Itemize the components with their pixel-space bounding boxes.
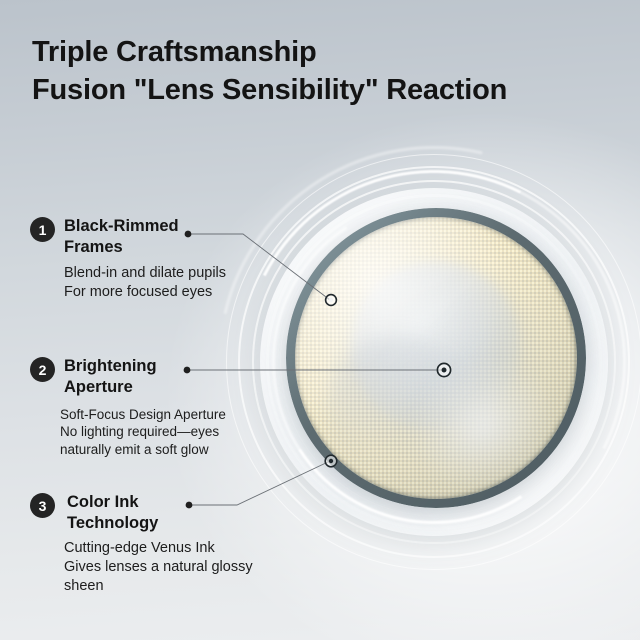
callout-black-rimmed-frames[interactable]: 1 Black-Rimmed Frames Blend-in and dilat…: [30, 216, 226, 302]
callout-brightening-aperture[interactable]: 2 Brightening Aperture Soft-Focus Design…: [30, 356, 226, 459]
title-line-1: Triple Craftsmanship: [32, 34, 622, 72]
callout-3-headline: Color Ink Technology: [67, 492, 217, 535]
callout-1-body: Blend-in and dilate pupils For more focu…: [64, 264, 226, 302]
callout-2-head: 2 Brightening Aperture: [30, 356, 226, 399]
callout-1-head: 1 Black-Rimmed Frames: [30, 216, 226, 259]
callout-2-headline: Brightening Aperture: [64, 356, 214, 399]
page-title: Triple Craftsmanship Fusion "Lens Sensib…: [32, 34, 622, 110]
callout-2-badge: 2: [30, 357, 55, 382]
callout-1-badge: 1: [30, 217, 55, 242]
callout-3-head: 3 Color Ink Technology: [30, 492, 253, 535]
callout-color-ink-technology[interactable]: 3 Color Ink Technology Cutting-edge Venu…: [30, 492, 253, 595]
product-lens-image: [224, 152, 640, 572]
callout-2-body: Soft-Focus Design Aperture No lighting r…: [60, 406, 226, 459]
callout-3-body: Cutting-edge Venus Ink Gives lenses a na…: [64, 539, 253, 596]
callout-1-headline: Black-Rimmed Frames: [64, 216, 214, 259]
title-line-2: Fusion "Lens Sensibility" Reaction: [32, 72, 622, 110]
infographic-canvas: Triple Craftsmanship Fusion "Lens Sensib…: [0, 0, 640, 640]
callout-3-badge: 3: [30, 493, 55, 518]
